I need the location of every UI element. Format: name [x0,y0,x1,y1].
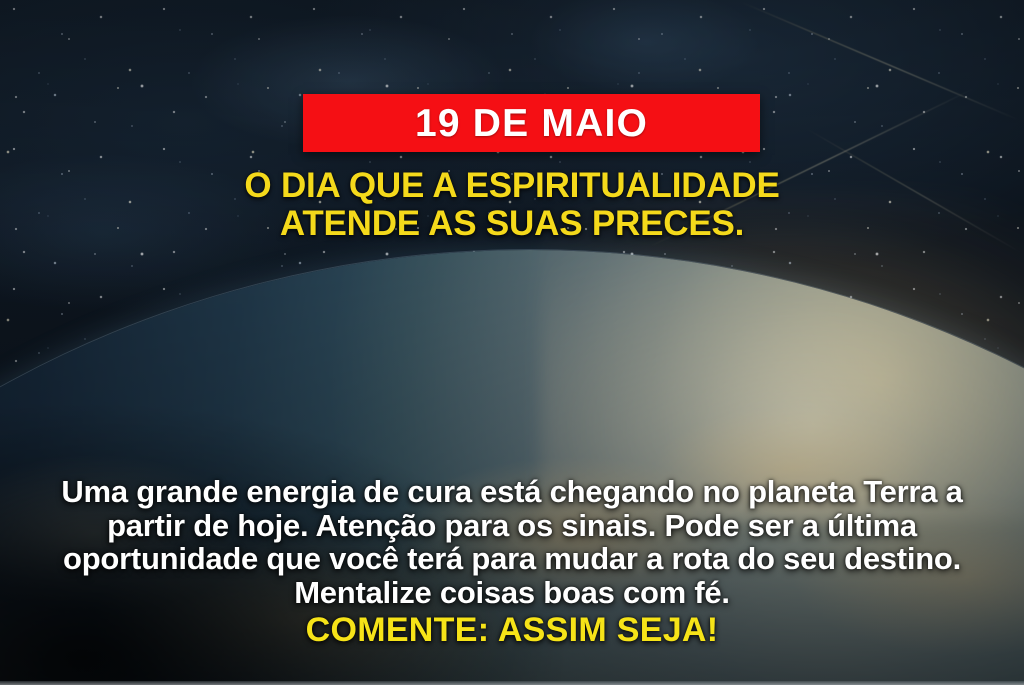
call-to-action-text: COMENTE: ASSIM SEJA! [0,611,1024,649]
poster-content: 19 DE MAIO O DIA QUE A ESPIRITUALIDADE A… [0,0,1024,685]
headline: O DIA QUE A ESPIRITUALIDADE ATENDE AS SU… [0,167,1024,243]
poster-canvas: 19 DE MAIO O DIA QUE A ESPIRITUALIDADE A… [0,0,1024,685]
date-banner-label: 19 DE MAIO [415,104,648,143]
body-paragraph: Uma grande energia de cura está chegando… [52,475,972,609]
date-banner: 19 DE MAIO [303,94,760,152]
headline-line-1: O DIA QUE A ESPIRITUALIDADE [244,166,779,205]
headline-line-2: ATENDE AS SUAS PRECES. [42,205,982,243]
